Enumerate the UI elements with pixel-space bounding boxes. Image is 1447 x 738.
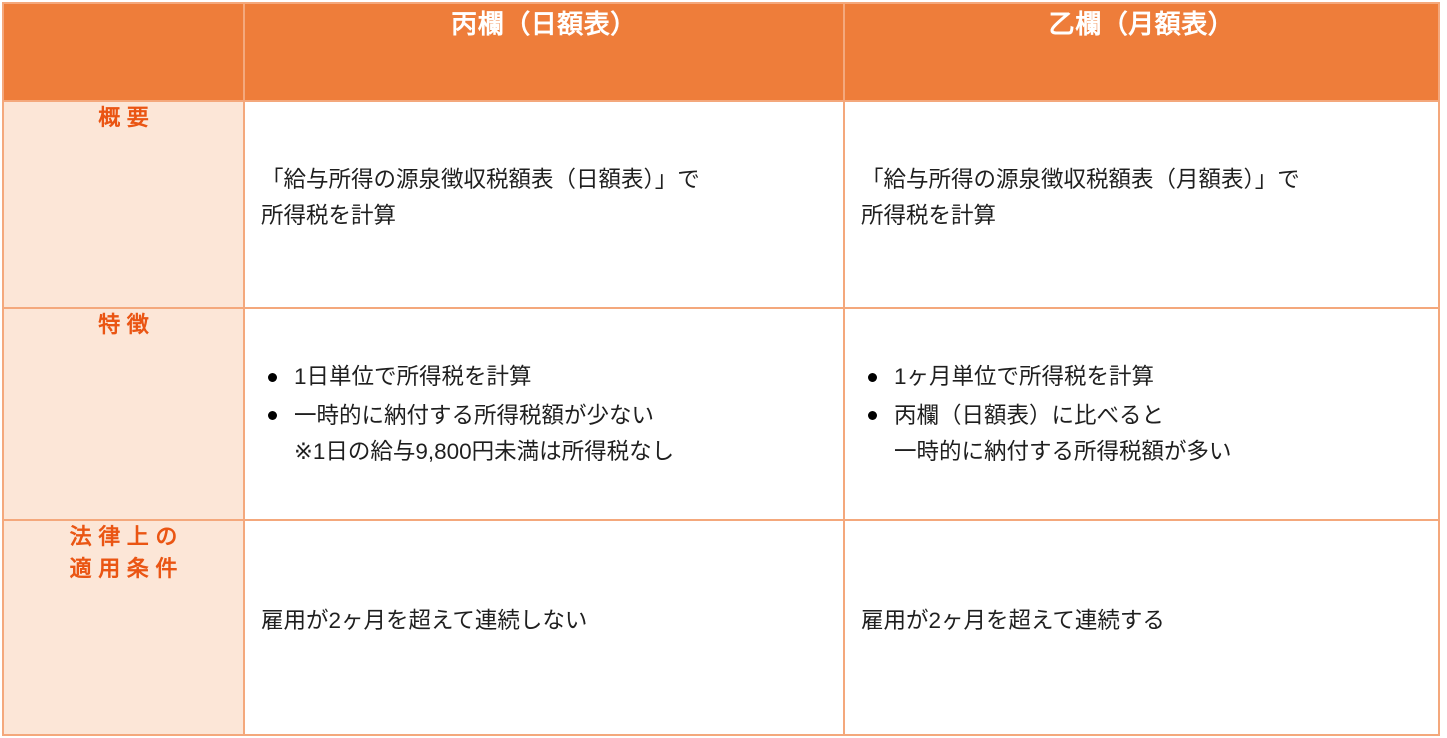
column-header-otsu-ran: 乙欄（月額表） xyxy=(844,3,1439,101)
cell-content: 1日単位で所得税を計算 一時的に納付する所得税額が少ない ※1日の給与9,800… xyxy=(245,309,843,470)
cell-content: 「給与所得の源泉徴収税額表（日額表）」で 所得税を計算 xyxy=(245,102,843,235)
cell-content: 雇用が2ヶ月を超えて連続する xyxy=(845,521,1438,639)
cell-gaiyou-hei-ran: 「給与所得の源泉徴収税額表（日額表）」で 所得税を計算 xyxy=(244,101,844,308)
table-row-jouken: 法律上の 適用条件 雇用が2ヶ月を超えて連続しない 雇用が2ヶ月を超えて連続する xyxy=(3,520,1439,735)
cell-gaiyou-otsu-ran: 「給与所得の源泉徴収税額表（月額表）」で 所得税を計算 xyxy=(844,101,1439,308)
bullet-list: 1日単位で所得税を計算 一時的に納付する所得税額が少ない ※1日の給与9,800… xyxy=(261,359,825,470)
bullet-text: 丙欄（日額表）に比べると xyxy=(894,398,1420,434)
column-header-hei-ran: 丙欄（日額表） xyxy=(244,3,844,101)
row-label-line: 適用条件 xyxy=(4,553,243,585)
row-label-line: 概要 xyxy=(4,102,243,134)
bullet-text: 1日単位で所得税を計算 xyxy=(294,359,825,395)
row-label-gaiyou: 概要 xyxy=(3,101,244,308)
list-item: 1日単位で所得税を計算 xyxy=(261,359,825,395)
bullet-dot-icon xyxy=(268,373,277,382)
comparison-table: 丙欄（日額表） 乙欄（月額表） 概要 「給与所得の源泉徴収税額表（日額表）」で … xyxy=(2,2,1440,736)
table-row-gaiyou: 概要 「給与所得の源泉徴収税額表（日額表）」で 所得税を計算 「給与所得の源泉徴… xyxy=(3,101,1439,308)
bullet-dot-icon xyxy=(868,411,877,420)
list-item: 1ヶ月単位で所得税を計算 xyxy=(861,359,1420,395)
bullet-note: 一時的に納付する所得税額が多い xyxy=(894,434,1420,470)
cell-content: 1ヶ月単位で所得税を計算 丙欄（日額表）に比べると 一時的に納付する所得税額が多… xyxy=(845,309,1438,470)
cell-paragraph: 雇用が2ヶ月を超えて連続しない xyxy=(261,603,825,639)
cell-jouken-otsu-ran: 雇用が2ヶ月を超えて連続する xyxy=(844,520,1439,735)
cell-paragraph: 「給与所得の源泉徴収税額表（日額表）」で 所得税を計算 xyxy=(261,162,825,235)
bullet-text: 1ヶ月単位で所得税を計算 xyxy=(894,359,1420,395)
bullet-dot-icon xyxy=(868,373,877,382)
row-label-jouken: 法律上の 適用条件 xyxy=(3,520,244,735)
row-label-line: 法律上の xyxy=(4,521,243,553)
bullet-list: 1ヶ月単位で所得税を計算 丙欄（日額表）に比べると 一時的に納付する所得税額が多… xyxy=(861,359,1420,470)
cell-paragraph: 「給与所得の源泉徴収税額表（月額表）」で 所得税を計算 xyxy=(861,162,1420,235)
cell-content: 雇用が2ヶ月を超えて連続しない xyxy=(245,521,843,639)
cell-content: 「給与所得の源泉徴収税額表（月額表）」で 所得税を計算 xyxy=(845,102,1438,235)
bullet-text: 一時的に納付する所得税額が少ない xyxy=(294,398,825,434)
list-item: 一時的に納付する所得税額が少ない ※1日の給与9,800円未満は所得税なし xyxy=(261,398,825,471)
cell-tokuchou-otsu-ran: 1ヶ月単位で所得税を計算 丙欄（日額表）に比べると 一時的に納付する所得税額が多… xyxy=(844,308,1439,519)
table-header-row: 丙欄（日額表） 乙欄（月額表） xyxy=(3,3,1439,101)
bullet-dot-icon xyxy=(268,411,277,420)
cell-jouken-hei-ran: 雇用が2ヶ月を超えて連続しない xyxy=(244,520,844,735)
cell-tokuchou-hei-ran: 1日単位で所得税を計算 一時的に納付する所得税額が少ない ※1日の給与9,800… xyxy=(244,308,844,519)
header-corner-cell xyxy=(3,3,244,101)
bullet-note: ※1日の給与9,800円未満は所得税なし xyxy=(294,434,825,470)
row-label-line: 特徴 xyxy=(4,309,243,341)
row-label-tokuchou: 特徴 xyxy=(3,308,244,519)
table-row-tokuchou: 特徴 1日単位で所得税を計算 一時的に納付する所得税額が少ない ※1日の給与9,… xyxy=(3,308,1439,519)
cell-paragraph: 雇用が2ヶ月を超えて連続する xyxy=(861,603,1420,639)
list-item: 丙欄（日額表）に比べると 一時的に納付する所得税額が多い xyxy=(861,398,1420,471)
